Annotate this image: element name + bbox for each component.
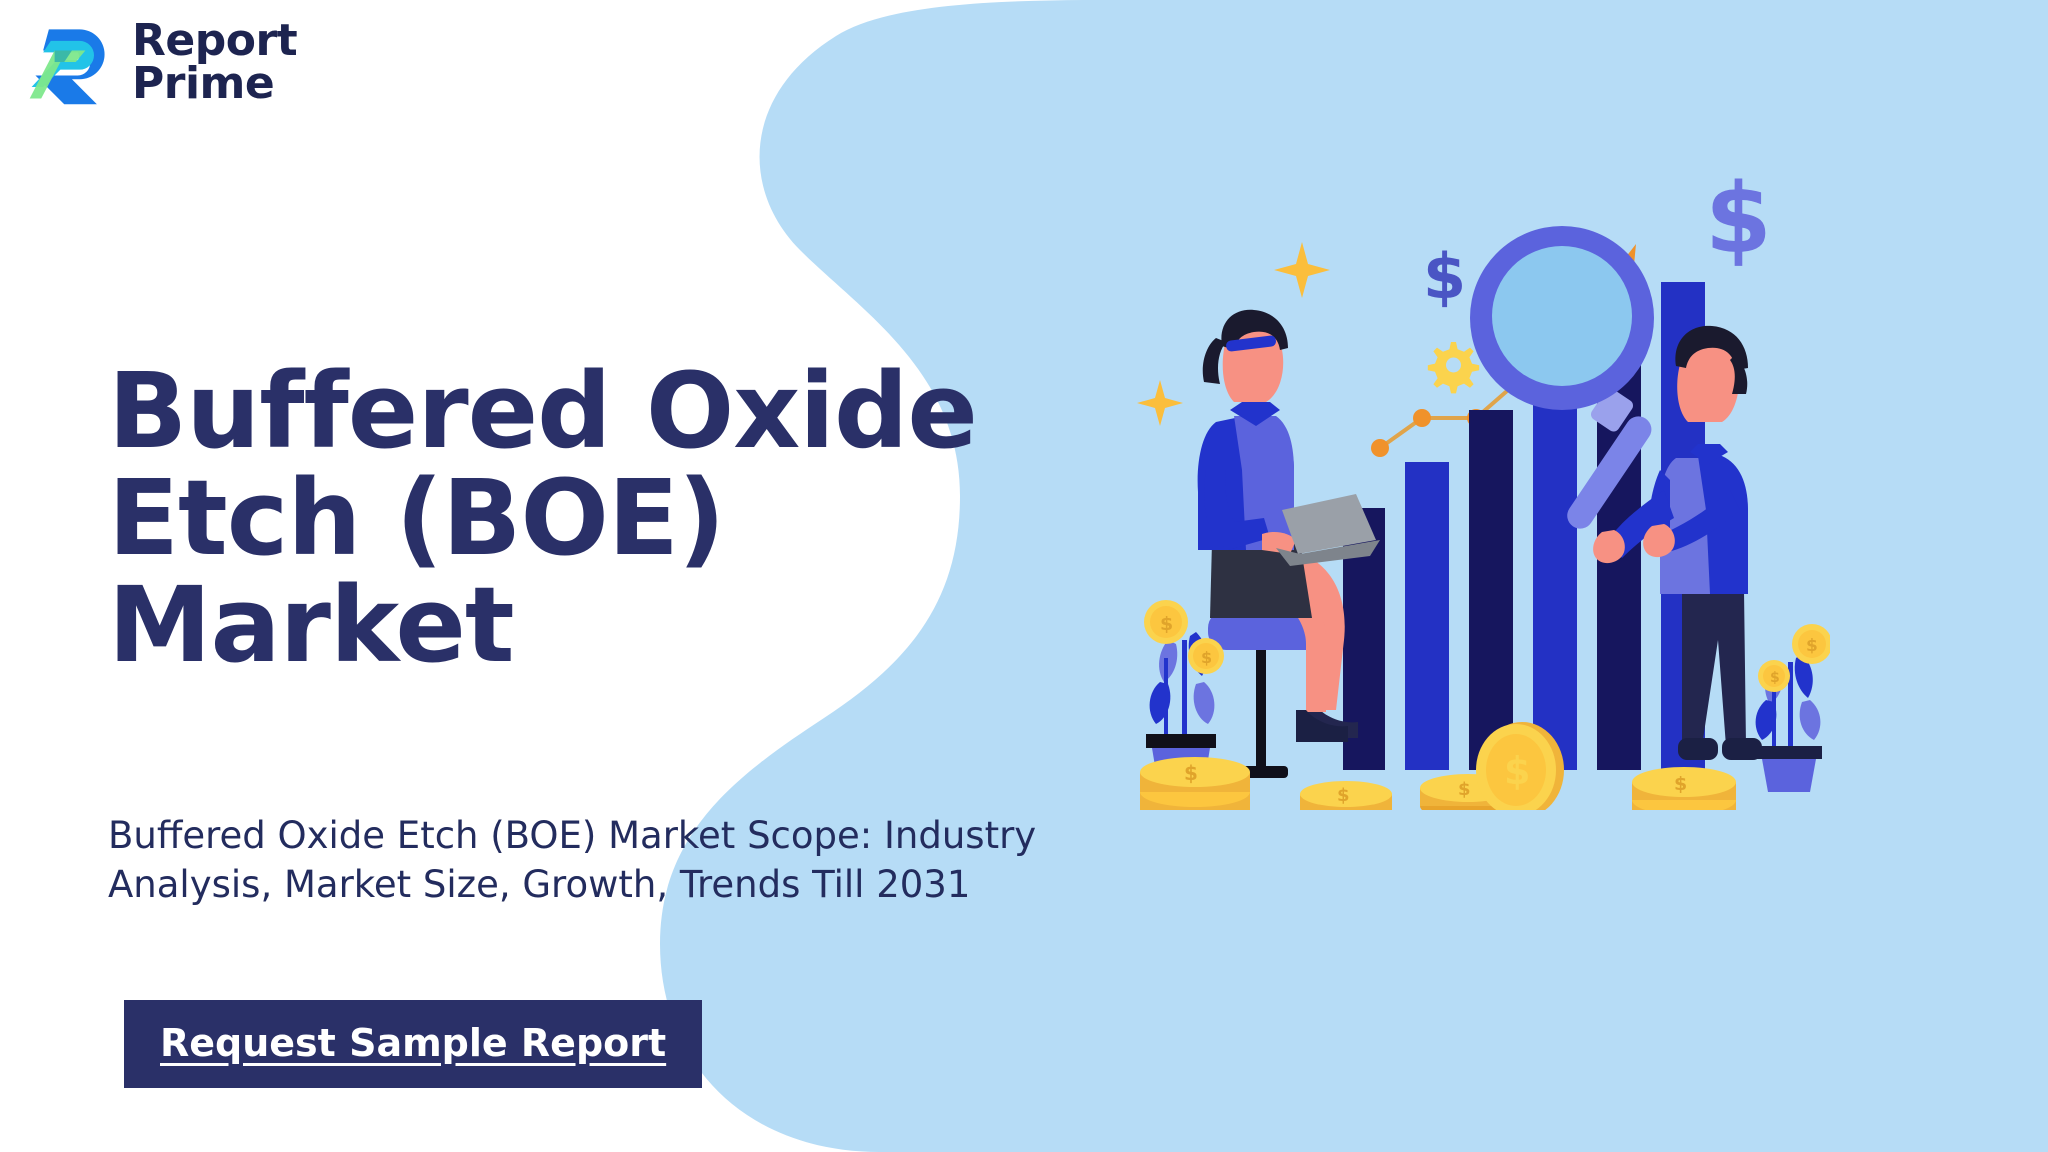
- page-title-line-3: Market: [108, 572, 1108, 679]
- svg-text:$: $: [1458, 779, 1471, 800]
- svg-text:$: $: [1423, 240, 1466, 313]
- sparkle-icon: [1274, 242, 1330, 298]
- page-title-line-1: Buffered Oxide: [108, 358, 1108, 465]
- hero-subtitle-line-2: Analysis, Market Size, Growth, Trends Ti…: [108, 861, 1228, 910]
- money-plant-right-icon: $ $: [1756, 624, 1830, 792]
- dollar-sign-large-icon: $: [1705, 170, 1772, 275]
- svg-text:$: $: [1770, 670, 1780, 686]
- chart-bar: [1405, 462, 1449, 770]
- svg-text:$: $: [1184, 761, 1198, 785]
- brand-name-line1: Report: [132, 19, 297, 62]
- page-title: Buffered Oxide Etch (BOE) Market: [108, 358, 1108, 679]
- page-title-line-2: Etch (BOE): [108, 465, 1108, 572]
- market-growth-illustration: $ $: [1130, 170, 1830, 810]
- hero-banner: Report Prime Buffered Oxide Etch (BOE) M…: [0, 0, 2048, 1152]
- svg-text:$: $: [1705, 170, 1772, 275]
- svg-text:$: $: [1337, 785, 1350, 806]
- dollar-sign-small-icon: $: [1423, 240, 1466, 313]
- coin-stack: $: [1632, 767, 1736, 810]
- coin-stack: $: [1300, 781, 1392, 810]
- gear-icon: [1428, 342, 1479, 393]
- chart-bar: [1469, 410, 1513, 770]
- svg-text:$: $: [1504, 749, 1530, 793]
- svg-text:$: $: [1201, 648, 1212, 667]
- request-sample-report-label: Request Sample Report: [160, 1021, 666, 1065]
- brand-name-line2: Prime: [132, 62, 297, 105]
- hero-subtitle: Buffered Oxide Etch (BOE) Market Scope: …: [108, 812, 1228, 910]
- coin-stack: $: [1140, 757, 1250, 810]
- svg-text:$: $: [1806, 636, 1818, 656]
- svg-text:$: $: [1674, 773, 1687, 795]
- hero-subtitle-line-1: Buffered Oxide Etch (BOE) Market Scope: …: [108, 812, 1228, 861]
- sparkle-icon: [1137, 380, 1183, 426]
- brand-logo[interactable]: Report Prime: [22, 14, 297, 110]
- brand-wordmark: Report Prime: [132, 19, 297, 105]
- request-sample-report-button[interactable]: Request Sample Report: [124, 1000, 702, 1088]
- svg-text:$: $: [1160, 613, 1173, 635]
- hero-text-block: Buffered Oxide Etch (BOE) Market: [108, 358, 1108, 679]
- report-prime-logo-mark-icon: [22, 14, 118, 110]
